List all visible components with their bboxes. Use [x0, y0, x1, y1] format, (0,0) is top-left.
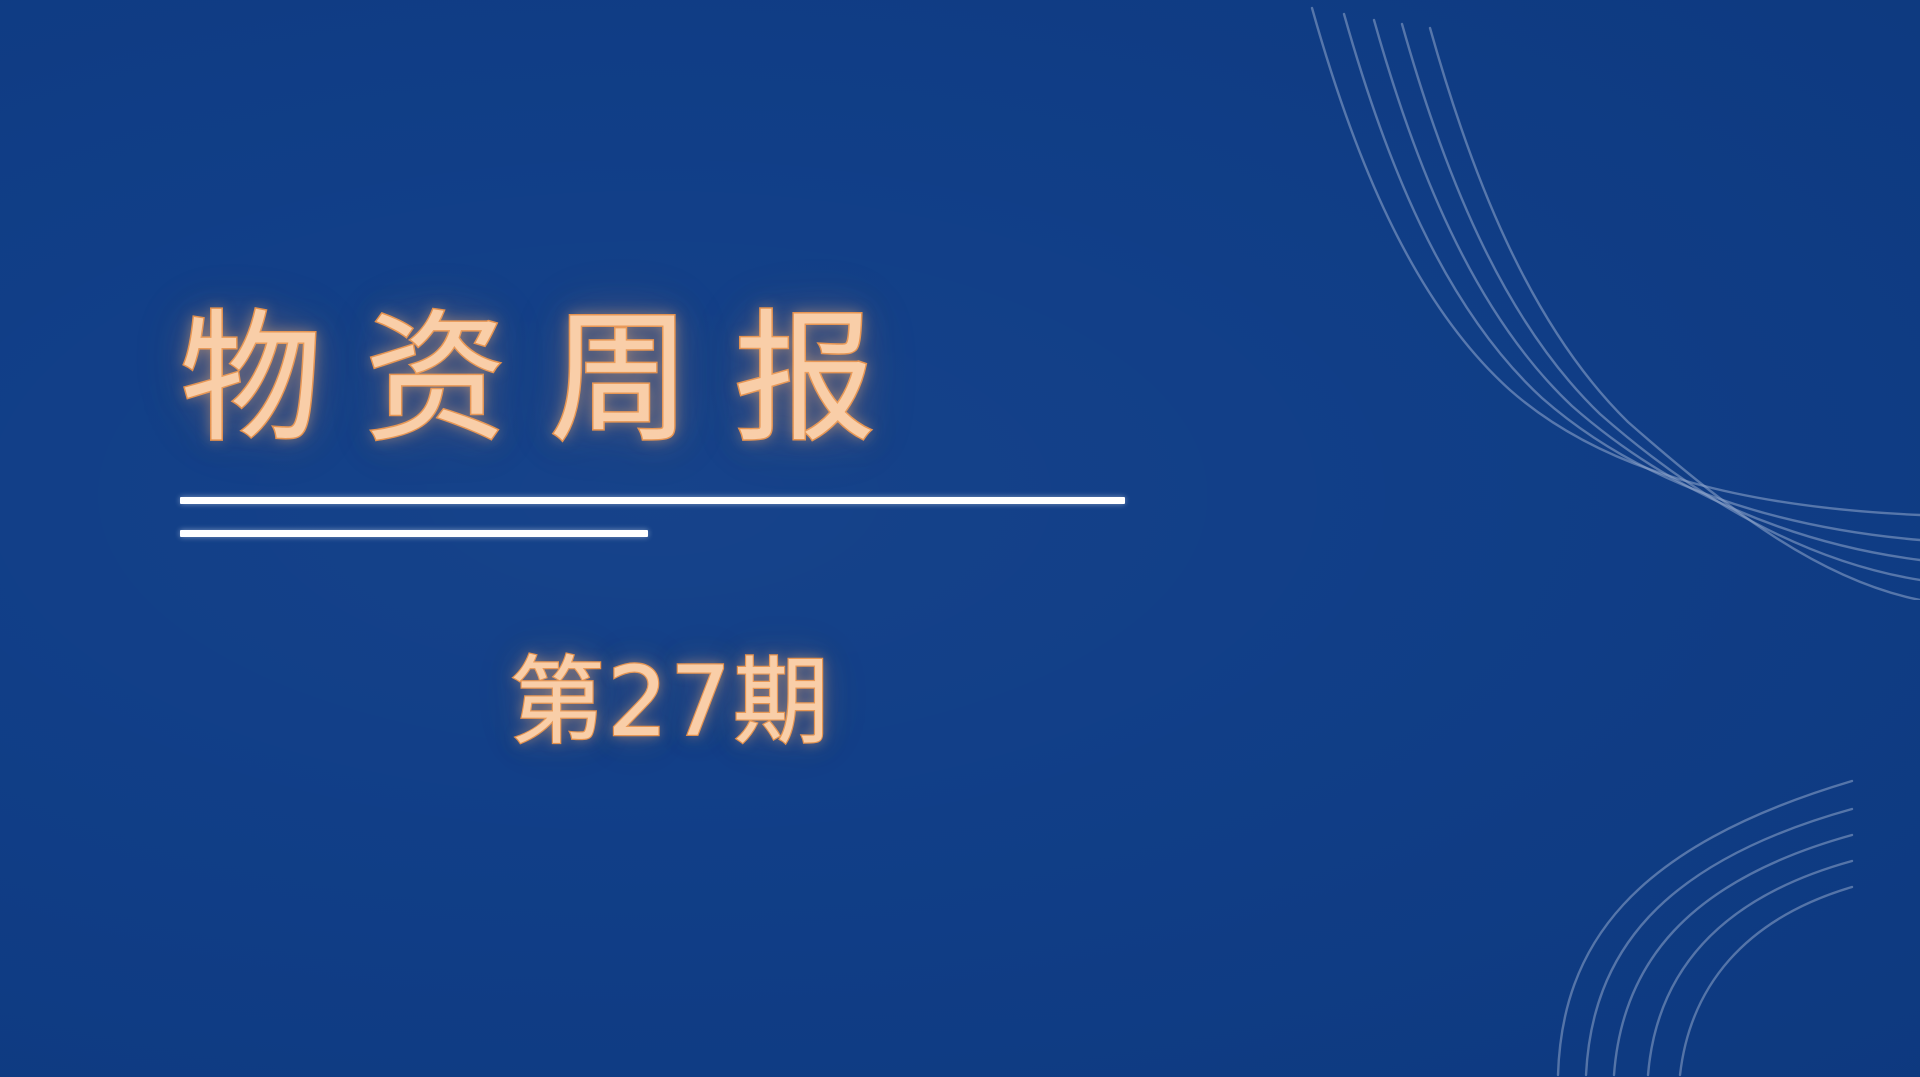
page-subtitle: 第27期	[180, 645, 1160, 760]
arc-line-1	[1558, 781, 1852, 1075]
title-underline-long	[180, 497, 1125, 504]
wave-line-5	[1430, 28, 1920, 600]
arc-line-5	[1680, 887, 1852, 1075]
arc-line-4	[1648, 861, 1852, 1075]
title-slide: 物资周报 第27期	[0, 0, 1920, 1077]
arc-line-3	[1614, 835, 1852, 1075]
top-right-wave-lines	[1260, 0, 1920, 600]
bottom-right-arc-lines	[1500, 737, 1920, 1077]
title-underline-short	[180, 530, 648, 537]
wave-line-4	[1402, 24, 1920, 580]
wave-line-3	[1374, 20, 1920, 560]
arc-line-2	[1586, 809, 1852, 1075]
wave-line-1	[1312, 8, 1920, 515]
title-block: 物资周报	[180, 286, 1180, 473]
wave-line-2	[1344, 14, 1920, 540]
page-title: 物资周报	[180, 286, 1180, 473]
